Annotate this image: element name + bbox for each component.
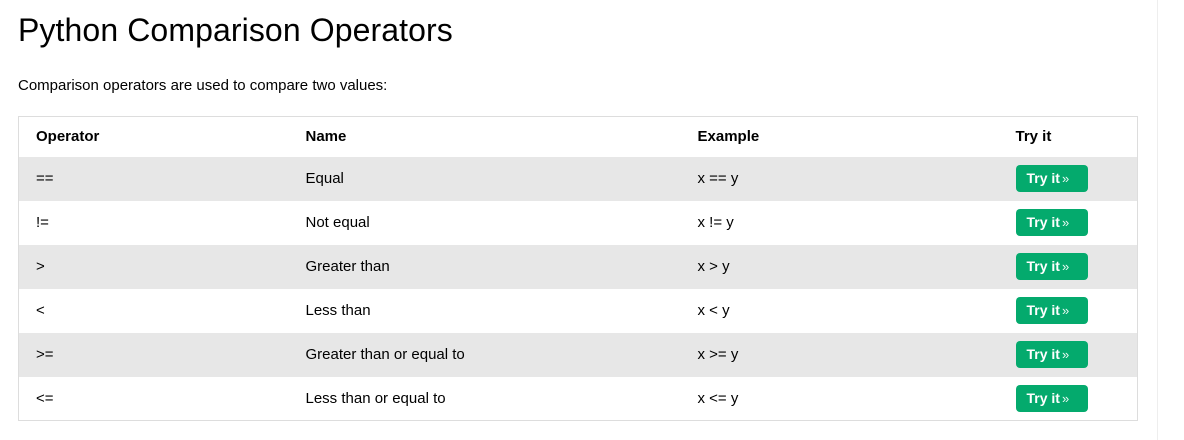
cell-name: Less than	[289, 289, 681, 333]
cell-name: Greater than or equal to	[289, 333, 681, 377]
cell-tryit: Try it»	[1016, 377, 1138, 421]
try-it-button[interactable]: Try it»	[1016, 253, 1088, 280]
cell-operator: !=	[19, 201, 289, 245]
try-it-button-label: Try it	[1027, 390, 1060, 406]
cell-example: x > y	[681, 245, 1016, 289]
table-row: != Not equal x != y Try it»	[19, 201, 1138, 245]
cell-operator: >	[19, 245, 289, 289]
try-it-button-label: Try it	[1027, 214, 1060, 230]
chevron-double-right-icon: »	[1062, 215, 1069, 230]
cell-tryit: Try it»	[1016, 333, 1138, 377]
table-header-row: Operator Name Example Try it	[19, 117, 1138, 157]
chevron-double-right-icon: »	[1062, 391, 1069, 406]
table-row: < Less than x < y Try it»	[19, 289, 1138, 333]
column-header-tryit: Try it	[1016, 117, 1138, 157]
cell-example: x <= y	[681, 377, 1016, 421]
cell-name: Equal	[289, 157, 681, 201]
cell-tryit: Try it»	[1016, 157, 1138, 201]
cell-tryit: Try it»	[1016, 245, 1138, 289]
table-row: == Equal x == y Try it»	[19, 157, 1138, 201]
comparison-operators-table: Operator Name Example Try it == Equal x …	[18, 116, 1138, 421]
column-header-name: Name	[289, 117, 681, 157]
column-header-example: Example	[681, 117, 1016, 157]
cell-example: x == y	[681, 157, 1016, 201]
cell-example: x != y	[681, 201, 1016, 245]
try-it-button[interactable]: Try it»	[1016, 209, 1088, 236]
chevron-double-right-icon: »	[1062, 171, 1069, 186]
cell-operator: >=	[19, 333, 289, 377]
content-column-divider	[1157, 0, 1158, 440]
try-it-button[interactable]: Try it»	[1016, 385, 1088, 412]
try-it-button[interactable]: Try it»	[1016, 165, 1088, 192]
column-header-operator: Operator	[19, 117, 289, 157]
cell-name: Greater than	[289, 245, 681, 289]
cell-operator: <=	[19, 377, 289, 421]
try-it-button[interactable]: Try it»	[1016, 341, 1088, 368]
try-it-button[interactable]: Try it»	[1016, 297, 1088, 324]
tutorial-content-area: Python Comparison Operators Comparison o…	[0, 0, 1157, 440]
cell-example: x >= y	[681, 333, 1016, 377]
try-it-button-label: Try it	[1027, 258, 1060, 274]
chevron-double-right-icon: »	[1062, 303, 1069, 318]
table-body: == Equal x == y Try it» != Not equal x !…	[19, 157, 1138, 421]
table-row: >= Greater than or equal to x >= y Try i…	[19, 333, 1138, 377]
chevron-double-right-icon: »	[1062, 347, 1069, 362]
cell-name: Not equal	[289, 201, 681, 245]
comparison-operators-table-wrapper: Operator Name Example Try it == Equal x …	[18, 116, 1137, 421]
intro-paragraph: Comparison operators are used to compare…	[18, 76, 387, 96]
cell-name: Less than or equal to	[289, 377, 681, 421]
try-it-button-label: Try it	[1027, 346, 1060, 362]
cell-tryit: Try it»	[1016, 289, 1138, 333]
table-row: > Greater than x > y Try it»	[19, 245, 1138, 289]
cell-operator: <	[19, 289, 289, 333]
cell-example: x < y	[681, 289, 1016, 333]
try-it-button-label: Try it	[1027, 302, 1060, 318]
chevron-double-right-icon: »	[1062, 259, 1069, 274]
cell-tryit: Try it»	[1016, 201, 1138, 245]
table-row: <= Less than or equal to x <= y Try it»	[19, 377, 1138, 421]
try-it-button-label: Try it	[1027, 170, 1060, 186]
cell-operator: ==	[19, 157, 289, 201]
page-title: Python Comparison Operators	[18, 11, 453, 49]
table-header: Operator Name Example Try it	[19, 117, 1138, 157]
